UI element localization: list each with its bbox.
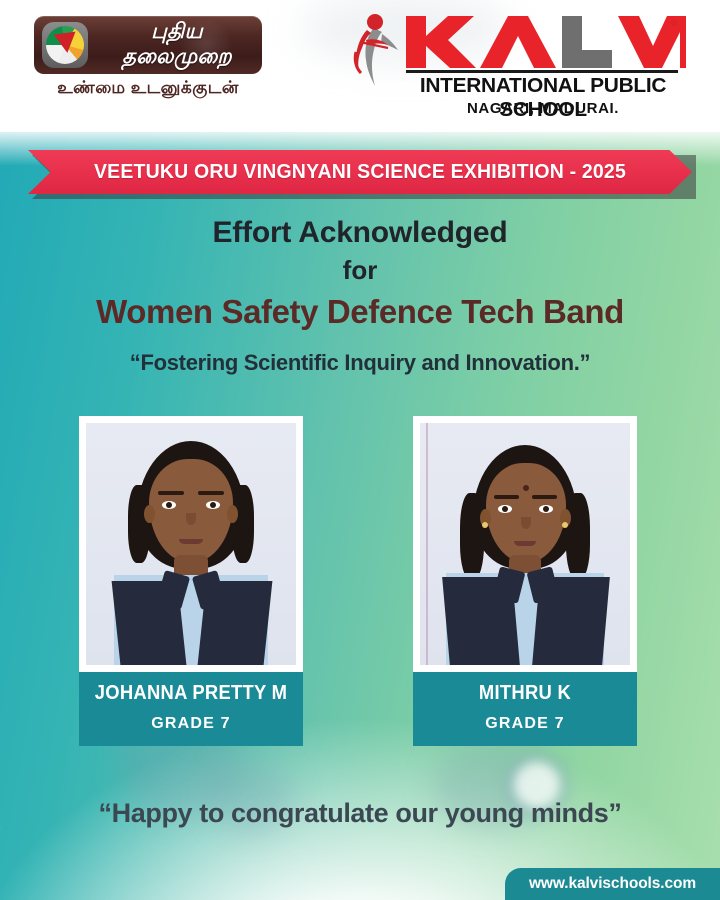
student-card: JOHANNA PRETTY M GRADE 7 [79,416,303,746]
headline-primary: Effort Acknowledged [0,214,720,252]
registered-mark: ® [671,18,678,28]
student-photo [86,423,296,665]
portrait-hair-side [566,493,590,579]
student-name-band: JOHANNA PRETTY M GRADE 7 [79,672,303,746]
ptm-tagline: உண்மை உடனுக்குடன் [34,78,262,100]
ptm-tamil-line2: தலைமுறை [98,44,256,69]
student-grade: GRADE 7 [79,714,303,733]
puthiya-thalaimurai-logo: புதிய தலைமுறை உண்மை உடனுக்குடன் [34,16,262,104]
portrait-eye [206,501,220,509]
portrait-earring [482,522,488,528]
student-photo [420,423,630,665]
portrait-eye [162,501,176,509]
ptm-orb-icon [42,22,88,68]
project-title: Women Safety Defence Tech Band [0,290,720,334]
poster-canvas: புதிய தலைமுறை உண்மை உடனுக்குடன் [0,0,720,900]
portrait-eye [498,505,512,513]
portrait-bindi [523,485,529,491]
archer-mascot-icon [344,12,406,88]
portrait-mouth [514,541,536,546]
portrait-ear [227,505,238,523]
school-location: NAGARI, MADURAI. [402,100,684,117]
student-name: MITHRU K [422,681,628,705]
website-badge[interactable]: www.kalvischools.com [505,868,720,900]
portrait-brow [198,491,224,495]
portrait-mouth [179,539,203,544]
event-tagline: “Fostering Scientific Inquiry and Innova… [0,350,720,376]
portrait-eye [539,505,553,513]
ribbon-title: VEETUKU ORU VINGNYANI SCIENCE EXHIBITION… [94,160,626,184]
ptm-tamil-line1: புதிய [98,19,256,44]
photo-edge-line [426,423,428,665]
portrait-hair-side [232,485,254,563]
portrait-earring [562,522,568,528]
ribbon-banner: VEETUKU ORU VINGNYANI SCIENCE EXHIBITION… [28,150,692,194]
portrait-hair-side [128,485,150,563]
portrait-brow [158,491,184,495]
portrait-brow [494,495,519,499]
portrait-brow [532,495,557,499]
headline-connector: for [0,252,720,288]
website-url: www.kalvischools.com [529,875,696,893]
student-card-list: JOHANNA PRETTY M GRADE 7 [0,416,720,756]
portrait-nose [521,517,531,529]
student-name: JOHANNA PRETTY M [88,681,294,705]
kalvi-divider [406,70,678,73]
header: புதிய தலைமுறை உண்மை உடனுக்குடன் [0,0,720,130]
kalvi-school-logo: ® INTERNATIONAL PUBLIC SCHOOL NAGARI, MA… [344,10,684,120]
photo-frame [413,416,637,672]
ptm-orb-inner-icon [46,26,84,64]
student-grade: GRADE 7 [413,714,637,733]
congratulation-quote: “Happy to congratulate our young minds” [0,798,720,829]
ptm-tamil-name: புதிய தலைமுறை [98,19,256,71]
event-ribbon: VEETUKU ORU VINGNYANI SCIENCE EXHIBITION… [28,150,692,194]
student-name-band: MITHRU K GRADE 7 [413,672,637,746]
photo-frame [79,416,303,672]
portrait-hair-side [460,493,484,579]
student-card: MITHRU K GRADE 7 [413,416,637,746]
kalvi-wordmark [404,14,686,72]
headline-block: Effort Acknowledged for Women Safety Def… [0,214,720,376]
portrait-ear [144,505,155,523]
portrait-nose [186,513,196,525]
